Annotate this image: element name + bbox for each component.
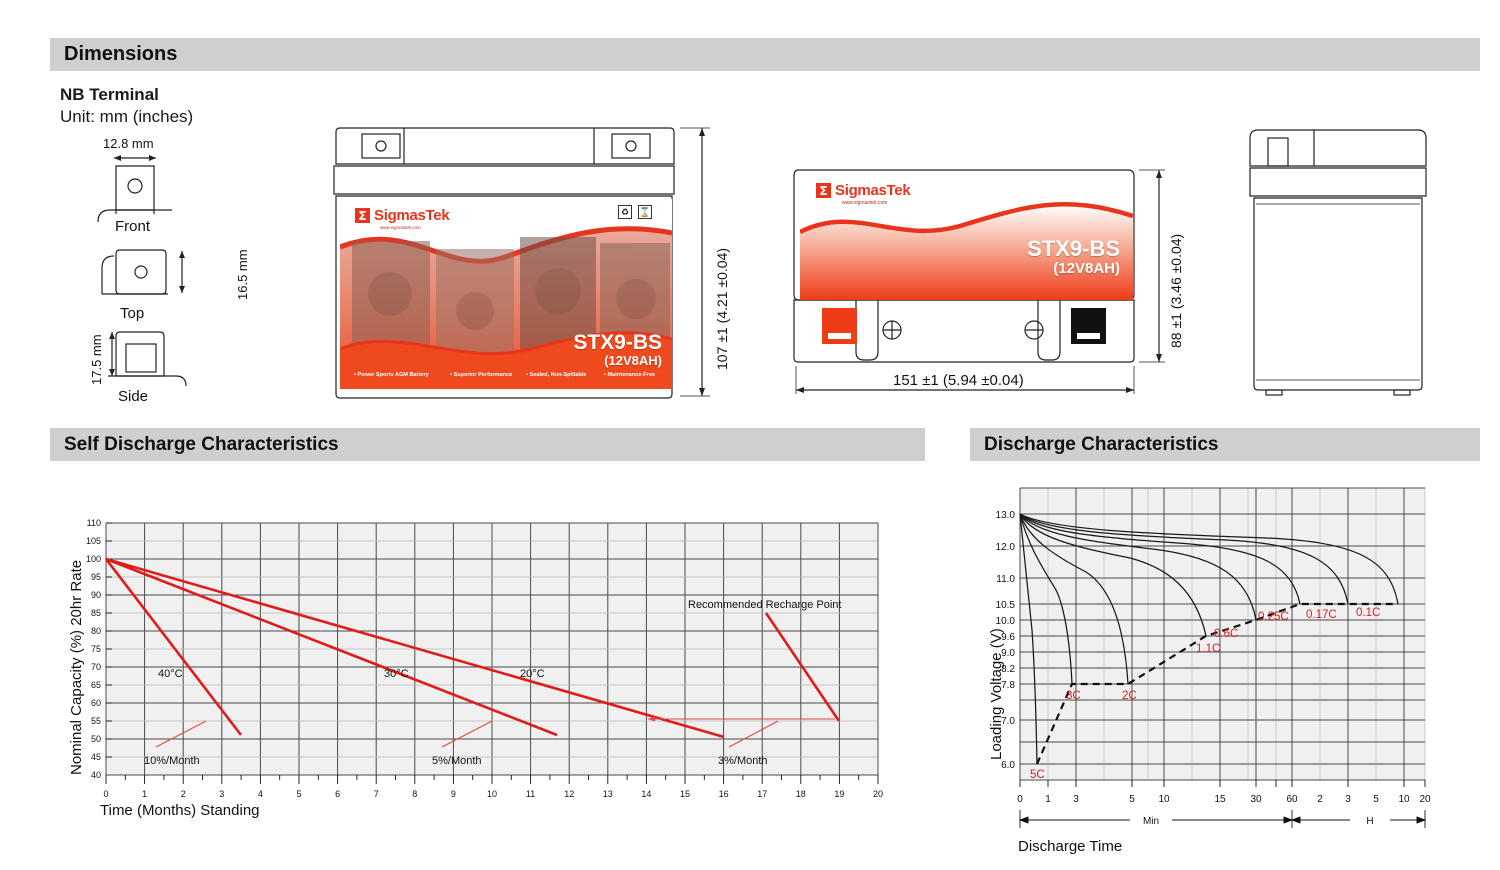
svg-text:100: 100: [86, 554, 101, 564]
terminal-front-label: Front: [115, 218, 150, 235]
annot-20c: 20°C: [520, 668, 545, 680]
xtick-10: 10: [1158, 794, 1170, 805]
label-5c: 5C: [1030, 769, 1045, 781]
label-0-6c: 0.6C: [1214, 628, 1238, 640]
recycle-icon: ♻: [618, 205, 632, 219]
svg-text:75: 75: [91, 644, 101, 654]
terminal-top-label: Top: [120, 305, 144, 322]
discharge-section-header: Discharge Characteristics: [970, 428, 1480, 461]
svg-text:11: 11: [526, 789, 535, 799]
svg-text:60: 60: [91, 698, 101, 708]
tagline-4: • Maintenance-Free: [604, 372, 655, 378]
svg-text:18: 18: [796, 789, 806, 799]
ytick-10: 10.0: [996, 616, 1016, 627]
terminal-height-dimension: 16.5 mm: [235, 249, 250, 300]
tagline-3: • Sealed, Non-Spillable: [526, 372, 586, 378]
svg-text:0: 0: [103, 789, 108, 799]
xtick-10h: 10: [1398, 794, 1410, 805]
hourglass-icon: ⌛: [638, 205, 652, 219]
svg-text:12: 12: [564, 789, 574, 799]
annot-30c: 30°C: [384, 668, 409, 680]
svg-text:105: 105: [86, 536, 101, 546]
ytick-11: 11.0: [996, 574, 1015, 585]
svg-text:110: 110: [87, 518, 101, 528]
nb-terminal-title: NB Terminal: [60, 85, 159, 105]
brand-url: www.sigmastek.com: [842, 200, 887, 206]
xtick-3h: 3: [1345, 794, 1351, 805]
xtick-1: 1: [1045, 794, 1051, 805]
terminal-views-drawing: [90, 152, 280, 410]
tagline-2: • Superior Performance: [450, 372, 512, 378]
label-2c: 2C: [1122, 690, 1137, 702]
label-0-25c: 0.25C: [1258, 611, 1289, 623]
brand-name: SigmasTek: [374, 207, 449, 224]
battery-end-view-outline: [1246, 126, 1438, 398]
self-discharge-x-axis-title: Time (Months) Standing: [100, 802, 260, 819]
battery-front-label: Σ SigmasTek www.sigmastek.com ♻ ⌛ STX9-B…: [340, 199, 672, 389]
label-0-17c: 0.17C: [1306, 609, 1337, 621]
xtick-3: 3: [1073, 794, 1079, 805]
svg-text:95: 95: [91, 572, 101, 582]
side-length-dimension: 151 ±1 (5.94 ±0.04): [893, 372, 1024, 389]
ytick-9: 9.0: [1001, 648, 1015, 659]
svg-text:40: 40: [91, 770, 101, 780]
terminal-side-label: Side: [118, 388, 148, 405]
svg-text:90: 90: [91, 590, 101, 600]
svg-text:1: 1: [142, 789, 147, 799]
svg-text:10: 10: [487, 789, 497, 799]
svg-text:85: 85: [91, 608, 101, 618]
svg-text:45: 45: [91, 752, 101, 762]
discharge-chart: 13.0 12.0 11.0 10.5 10.0 9.6 9.0 8.2 7.8…: [1000, 480, 1440, 860]
svg-text:65: 65: [91, 680, 101, 690]
sigma-logo-icon: Σ: [816, 183, 831, 198]
terminal-side-dimension: 17.5 mm: [89, 334, 104, 385]
side-brand-lockup: Σ SigmasTek: [816, 182, 910, 199]
svg-text:6: 6: [335, 789, 340, 799]
battery-side-label: Σ SigmasTek www.sigmastek.com STX9-BS (1…: [800, 174, 1133, 300]
xtick-0: 0: [1017, 794, 1023, 805]
xtick-30: 30: [1250, 794, 1262, 805]
self-discharge-title: Self Discharge Characteristics: [64, 434, 339, 456]
battery-capacity: (12V8AH): [920, 260, 1120, 277]
svg-text:20: 20: [873, 789, 883, 799]
xtick-60: 60: [1286, 794, 1298, 805]
ytick-6: 6.0: [1001, 760, 1015, 771]
annot-40c: 40°C: [158, 668, 183, 680]
unit-label: Unit: mm (inches): [60, 107, 193, 127]
sigma-logo-icon: Σ: [355, 208, 370, 223]
ytick-12: 12.0: [996, 542, 1016, 553]
svg-text:70: 70: [91, 662, 101, 672]
svg-text:3: 3: [219, 789, 224, 799]
svg-text:15: 15: [680, 789, 690, 799]
dimensions-title: Dimensions: [64, 43, 177, 66]
ytick-13: 13.0: [996, 510, 1016, 521]
label-3c: 3C: [1066, 690, 1081, 702]
svg-text:55: 55: [91, 716, 101, 726]
annot-5pct-month: 5%/Month: [432, 755, 482, 767]
xtick-5h: 5: [1373, 794, 1379, 805]
xtick-2h: 2: [1317, 794, 1323, 805]
xtick-20h: 20: [1419, 794, 1431, 805]
svg-text:80: 80: [91, 626, 101, 636]
annot-3pct-month: 3%/Month: [718, 755, 768, 767]
svg-text:4: 4: [258, 789, 263, 799]
ytick-8-2: 8.2: [1001, 664, 1015, 675]
ytick-7-8: 7.8: [1001, 680, 1015, 691]
svg-text:19: 19: [834, 789, 844, 799]
svg-text:50: 50: [91, 734, 101, 744]
dimensions-section-header: Dimensions: [50, 38, 1480, 71]
annot-recharge-point: Recommended Recharge Point: [688, 599, 841, 611]
self-discharge-section-header: Self Discharge Characteristics: [50, 428, 925, 461]
terminal-width-dimension: 12.8 mm: [103, 136, 154, 151]
svg-text:14: 14: [641, 789, 651, 799]
battery-model: STX9-BS: [480, 331, 662, 355]
battery-model: STX9-BS: [920, 236, 1120, 262]
label-1-1c: 1.1C: [1196, 643, 1220, 655]
xtick-15: 15: [1214, 794, 1226, 805]
ytick-7: 7.0: [1001, 716, 1015, 727]
ytick-9-6: 9.6: [1001, 632, 1015, 643]
front-height-dimension: 107 ±1 (4.21 ±0.04): [714, 248, 730, 370]
tagline-1: • Power Sports AGM Battery: [354, 372, 429, 378]
brand-lockup: Σ SigmasTek: [355, 207, 449, 224]
discharge-title: Discharge Characteristics: [984, 434, 1218, 456]
side-height-dimension: 88 ±1 (3.46 ±0.04): [1168, 234, 1184, 348]
xtick-5: 5: [1129, 794, 1135, 805]
ytick-10-5: 10.5: [996, 600, 1016, 611]
svg-text:17: 17: [757, 789, 767, 799]
svg-text:13: 13: [603, 789, 613, 799]
self-discharge-chart: 110105 10095 9085 8075 7065 6055 5045 40: [78, 515, 888, 790]
brand-name: SigmasTek: [835, 182, 910, 199]
svg-text:5: 5: [296, 789, 301, 799]
svg-text:2: 2: [181, 789, 186, 799]
battery-capacity: (12V8AH): [480, 353, 662, 368]
brand-url: www.sigmastek.com: [380, 225, 421, 230]
svg-text:8: 8: [412, 789, 417, 799]
xaxis-group-hour: H: [1366, 816, 1373, 827]
label-0-1c: 0.1C: [1356, 607, 1380, 619]
xaxis-group-min: Min: [1143, 816, 1159, 827]
annot-10pct-month: 10%/Month: [144, 755, 200, 767]
svg-text:9: 9: [451, 789, 456, 799]
svg-text:16: 16: [719, 789, 729, 799]
svg-text:7: 7: [374, 789, 379, 799]
